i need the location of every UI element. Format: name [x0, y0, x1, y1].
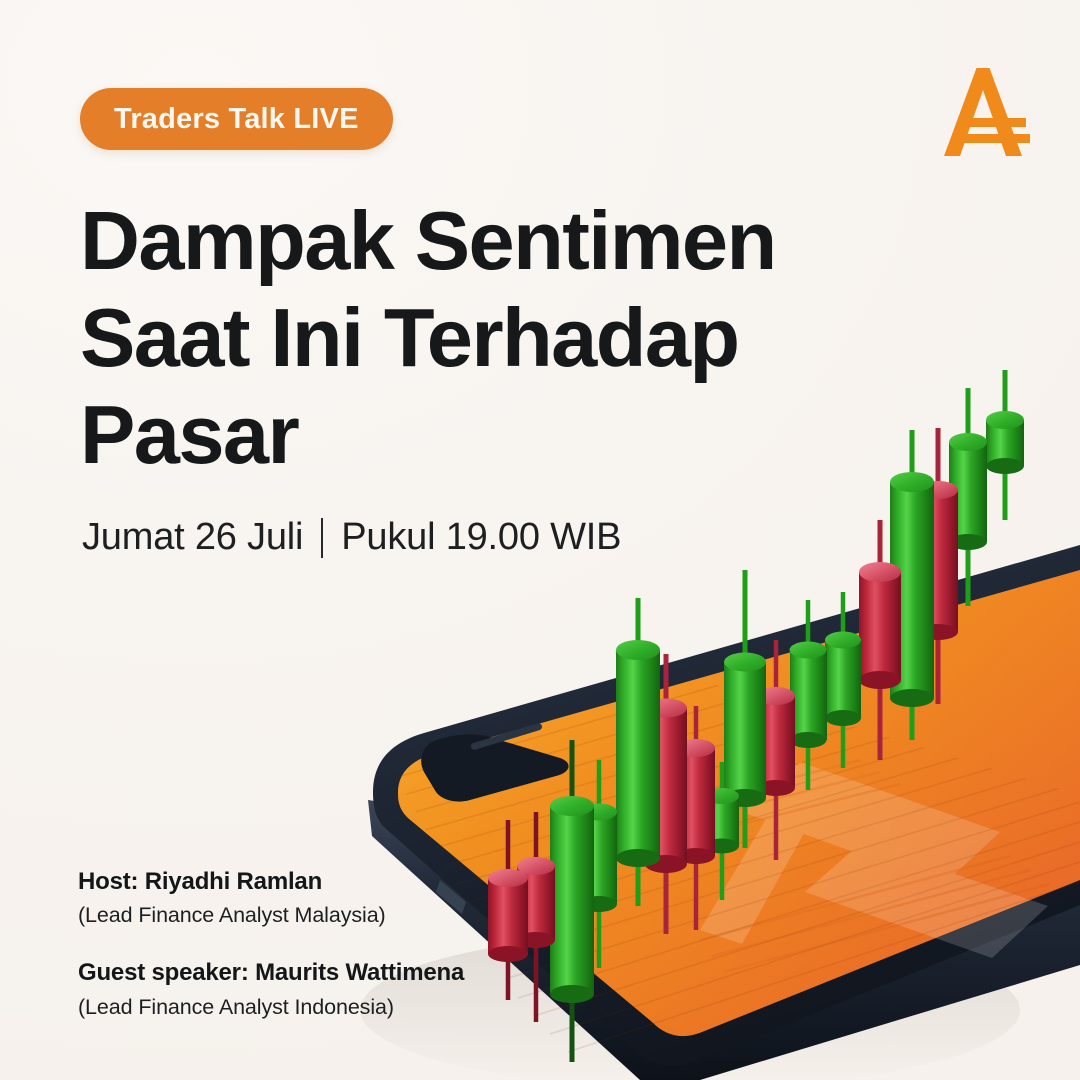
host-name: Host: Riyadhi Ramlan — [78, 866, 548, 897]
ascendex-a-logo — [930, 62, 1034, 162]
live-badge[interactable]: Traders Talk LIVE — [80, 88, 393, 150]
schedule-separator — [321, 518, 323, 558]
guest-credit: Guest speaker: Maurits Wattimena (Lead F… — [78, 957, 548, 1022]
host-role: (Lead Finance Analyst Malaysia) — [78, 900, 548, 931]
title-line-3: Pasar — [80, 386, 820, 483]
page-title: Dampak Sentimen Saat Ini Terhadap Pasar — [80, 192, 820, 483]
title-line-2: Saat Ini Terhadap — [80, 289, 820, 386]
guest-name: Guest speaker: Maurits Wattimena — [78, 957, 548, 988]
host-credit: Host: Riyadhi Ramlan (Lead Finance Analy… — [78, 866, 548, 931]
guest-role: (Lead Finance Analyst Indonesia) — [78, 992, 548, 1023]
title-line-1: Dampak Sentimen — [80, 192, 820, 289]
speaker-credits: Host: Riyadhi Ramlan (Lead Finance Analy… — [78, 866, 548, 1023]
event-time: Pukul 19.00 WIB — [341, 516, 621, 559]
event-schedule: Jumat 26 Juli Pukul 19.00 WIB — [82, 516, 621, 559]
event-date: Jumat 26 Juli — [82, 516, 303, 559]
poster-canvas: Traders Talk LIVE Dampak Sentimen Saat I… — [0, 0, 1080, 1080]
live-badge-label: Traders Talk LIVE — [114, 103, 359, 136]
